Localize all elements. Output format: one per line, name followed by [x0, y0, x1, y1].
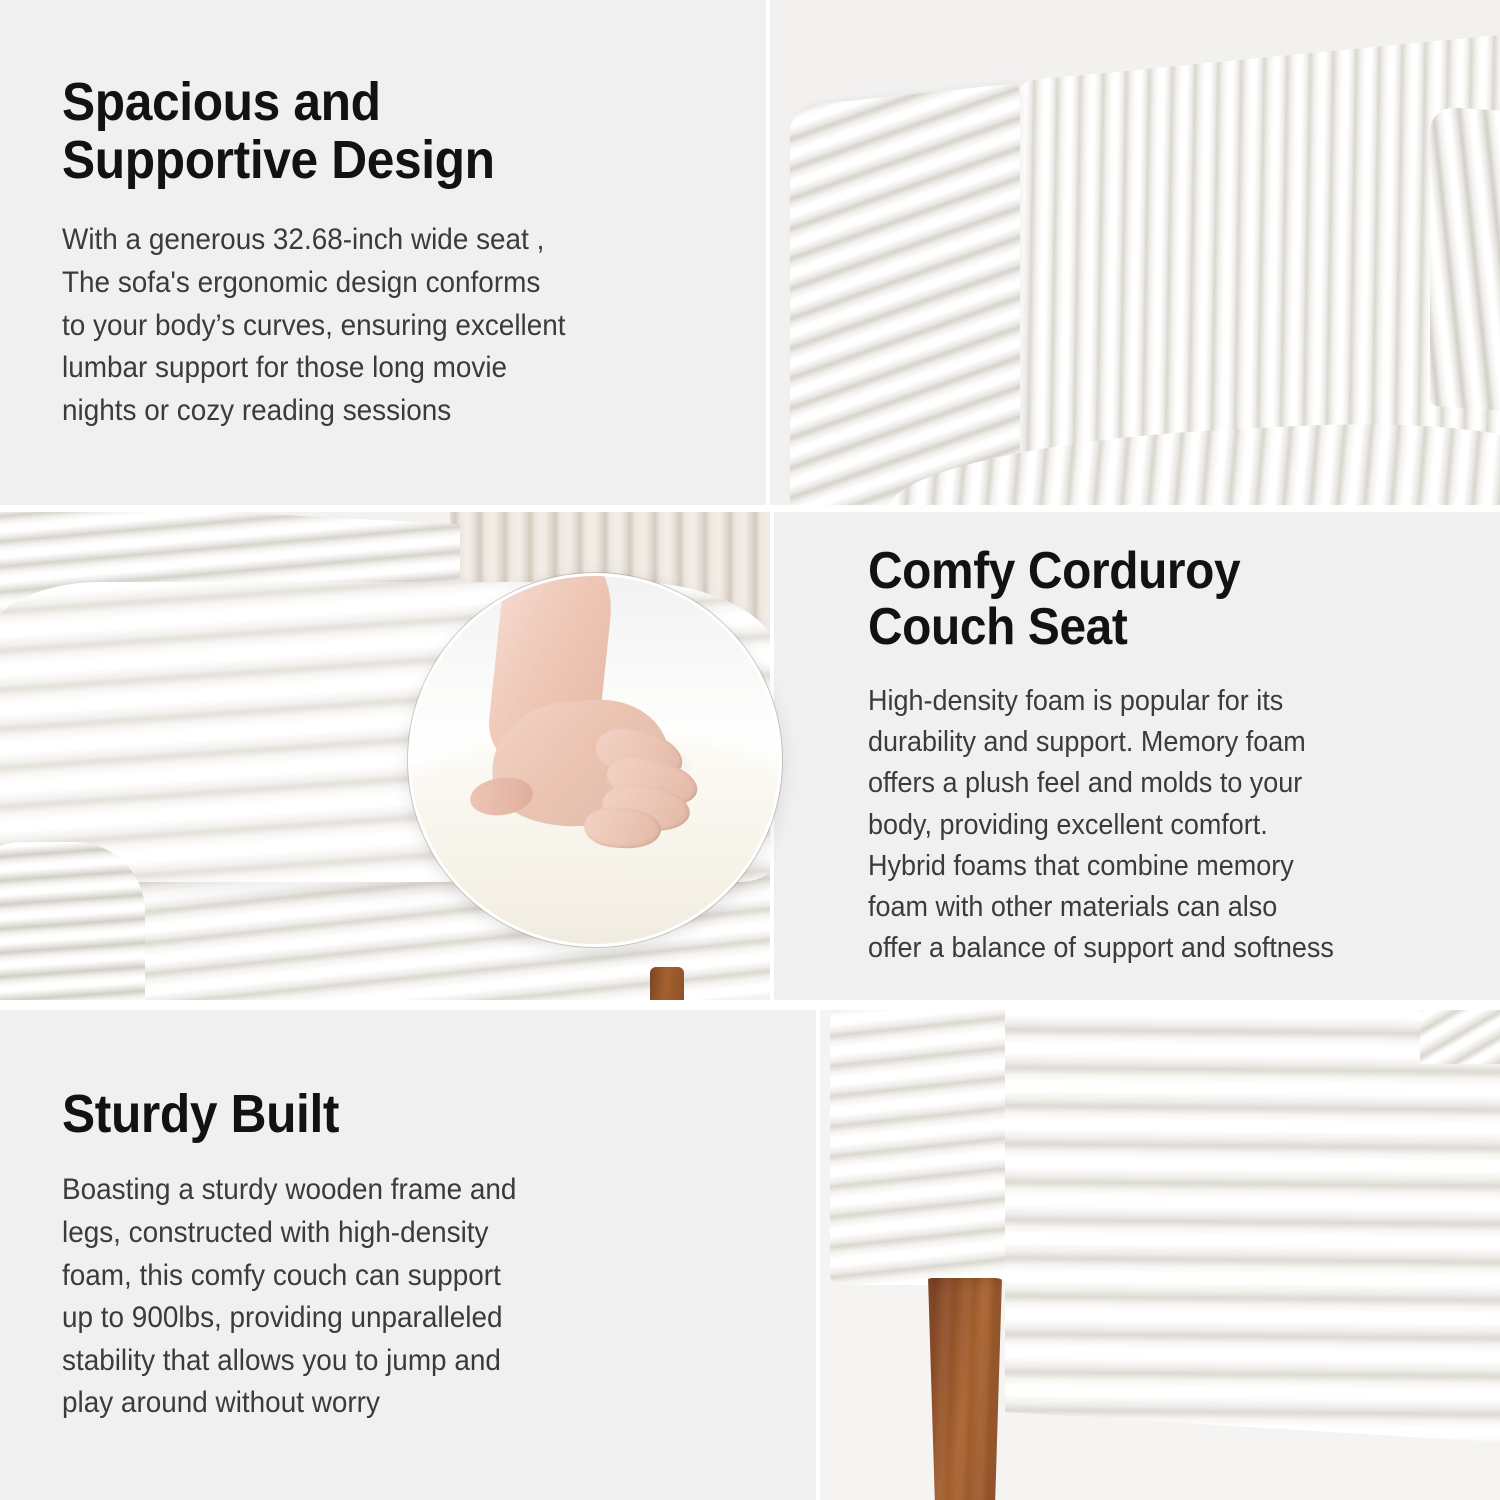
product-feature-infographic: Spacious and Supportive Design With a ge… [0, 0, 1500, 1500]
section-comfy-corduroy-couch-seat: Comfy Corduroy Couch Seat High-density f… [770, 512, 1500, 1000]
sofa-side-panel [830, 1010, 1005, 1285]
section-body: High-density foam is popular for its dur… [868, 681, 1456, 969]
wood-grain [923, 1278, 1007, 1500]
sofa-right-cushion [1430, 106, 1500, 414]
column-divider-row1 [766, 0, 770, 505]
hand-icon [411, 576, 779, 944]
sofa-arm-backrest-image [770, 0, 1500, 505]
sofa-top-cushion-edge [1420, 1010, 1500, 1064]
section-sturdy-built: Sturdy Built Boasting a sturdy wooden fr… [0, 1010, 820, 1500]
wooden-leg-small [650, 967, 684, 1000]
section-heading: Comfy Corduroy Couch Seat [868, 543, 1449, 655]
column-divider-row3 [816, 1010, 820, 1500]
section-heading: Spacious and Supportive Design [62, 73, 656, 190]
section-body: With a generous 32.68-inch wide seat , T… [62, 219, 663, 432]
left-armrest [0, 842, 145, 1000]
section-heading: Sturdy Built [62, 1085, 702, 1143]
wooden-leg [923, 1278, 1007, 1500]
sofa-base-wooden-leg-image [820, 1010, 1500, 1500]
section-body: Boasting a sturdy wooden frame and legs,… [62, 1169, 709, 1425]
hand-pressing-foam-inset [408, 573, 782, 947]
row-divider-2 [0, 1000, 1500, 1010]
section-spacious-supportive-design: Spacious and Supportive Design With a ge… [0, 0, 770, 505]
row-divider-1 [0, 505, 1500, 512]
sofa-base-panel [1005, 1010, 1500, 1444]
